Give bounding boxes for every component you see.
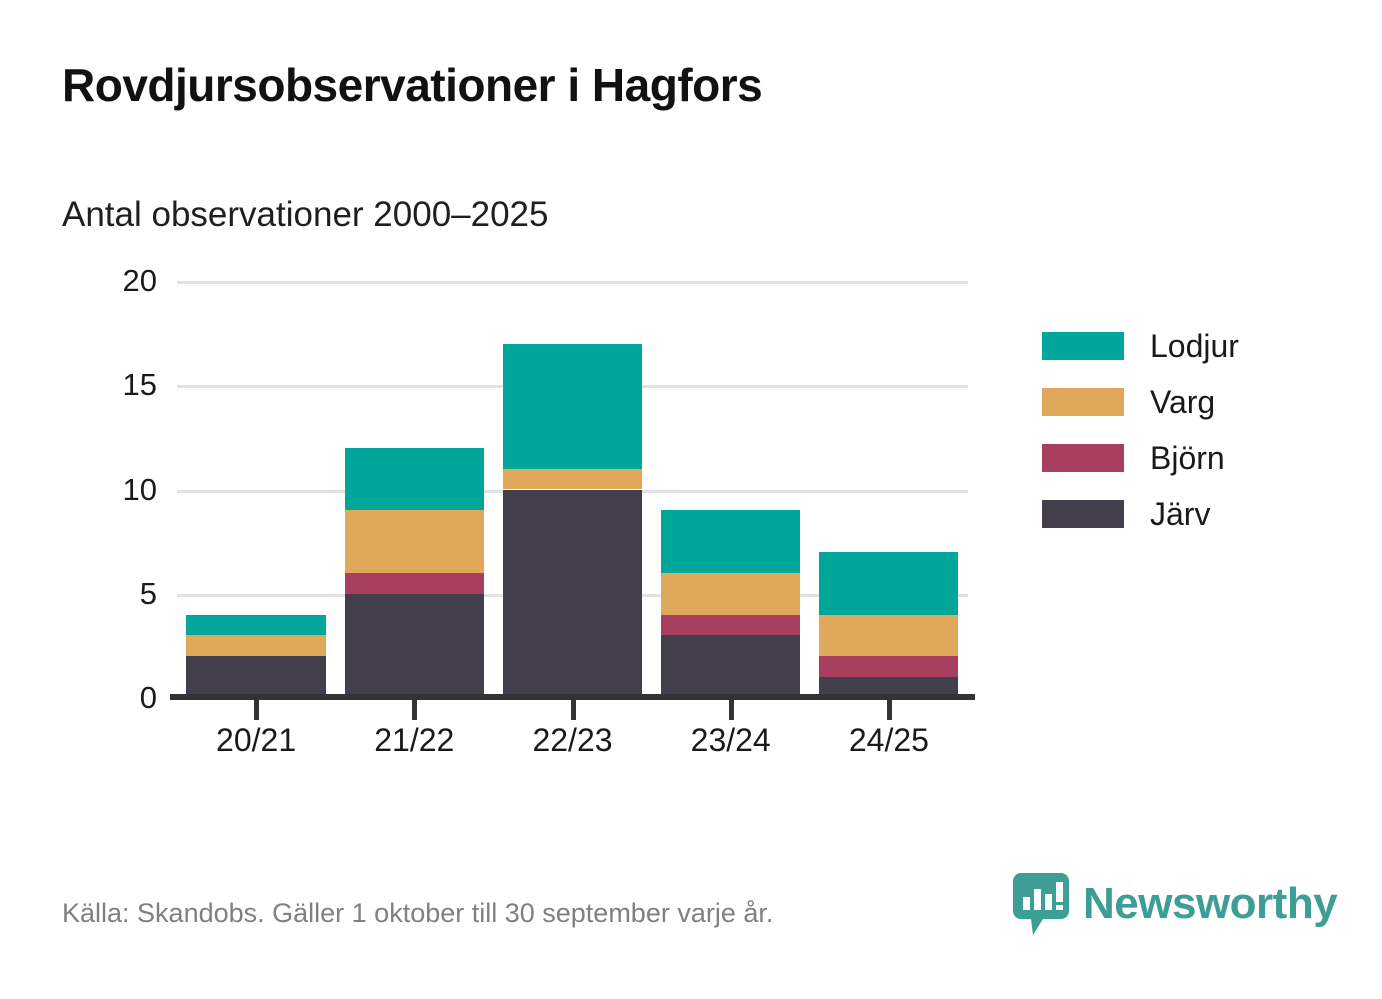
bar-segment-varg[interactable]: [819, 615, 958, 657]
bar-segment-björn[interactable]: [345, 573, 484, 594]
legend-item-varg[interactable]: Varg: [1042, 374, 1239, 430]
bar-stack[interactable]: [186, 281, 325, 698]
bar-segment-varg[interactable]: [661, 573, 800, 615]
bar-segment-järv[interactable]: [186, 656, 325, 698]
chart-legend: LodjurVargBjörnJärv: [1042, 318, 1239, 542]
bar-segment-varg[interactable]: [186, 635, 325, 656]
legend-item-järv[interactable]: Järv: [1042, 486, 1239, 542]
page-title: Rovdjursobservationer i Hagfors: [62, 58, 762, 112]
x-axis-tick: [729, 700, 734, 720]
legend-label: Varg: [1150, 384, 1215, 421]
bar-segment-lodjur[interactable]: [661, 510, 800, 573]
bar-segment-björn[interactable]: [661, 615, 800, 636]
newsworthy-logo: Newsworthy: [1013, 873, 1337, 935]
x-axis-tick-label: 24/25: [789, 722, 989, 759]
y-axis-tick-label: 5: [37, 578, 157, 609]
bar-stack[interactable]: [345, 281, 484, 698]
y-axis-tick-label: 10: [37, 474, 157, 505]
legend-label: Björn: [1150, 440, 1225, 477]
bar-segment-björn[interactable]: [819, 656, 958, 677]
source-note: Källa: Skandobs. Gäller 1 oktober till 3…: [62, 898, 773, 929]
bar-segment-lodjur[interactable]: [345, 448, 484, 511]
legend-label: Lodjur: [1150, 328, 1239, 365]
bar-segment-varg[interactable]: [345, 510, 484, 573]
legend-swatch-björn: [1042, 444, 1124, 472]
bar-segment-järv[interactable]: [661, 635, 800, 698]
bar-segment-varg[interactable]: [503, 469, 642, 490]
bar-stack[interactable]: [819, 281, 958, 698]
bar-segment-lodjur[interactable]: [186, 615, 325, 636]
x-axis-tick: [571, 700, 576, 720]
y-axis-tick-label: 0: [37, 682, 157, 713]
legend-swatch-lodjur: [1042, 332, 1124, 360]
brand-name: Newsworthy: [1083, 879, 1337, 929]
bar-stack[interactable]: [661, 281, 800, 698]
legend-swatch-varg: [1042, 388, 1124, 416]
bar-segment-lodjur[interactable]: [503, 344, 642, 469]
bar-chart-speech-bubble-icon: [1013, 873, 1069, 935]
bar-segment-järv[interactable]: [503, 490, 642, 699]
y-axis-tick-label: 20: [37, 265, 157, 296]
legend-item-björn[interactable]: Björn: [1042, 430, 1239, 486]
chart-subtitle: Antal observationer 2000–2025: [62, 195, 548, 235]
x-axis-tick: [254, 700, 259, 720]
y-axis-tick-label: 15: [37, 369, 157, 400]
x-axis-tick: [412, 700, 417, 720]
bar-stack[interactable]: [503, 281, 642, 698]
legend-swatch-järv: [1042, 500, 1124, 528]
chart-plot-area: [177, 281, 968, 698]
legend-item-lodjur[interactable]: Lodjur: [1042, 318, 1239, 374]
bar-segment-järv[interactable]: [345, 594, 484, 698]
x-axis-tick: [887, 700, 892, 720]
bar-segment-lodjur[interactable]: [819, 552, 958, 615]
legend-label: Järv: [1150, 496, 1210, 533]
